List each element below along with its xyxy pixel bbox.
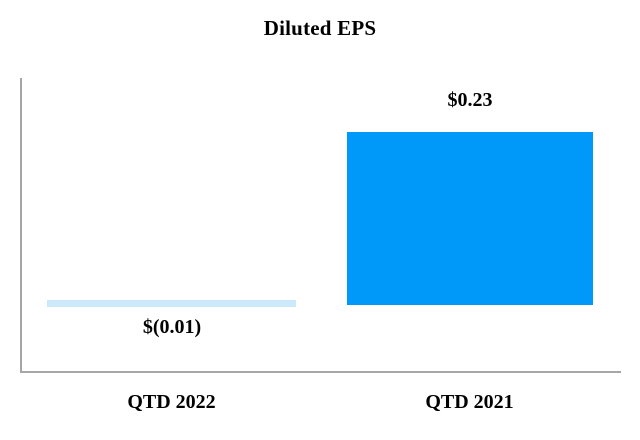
- category-label-qtd-2022: QTD 2022: [57, 391, 286, 414]
- y-axis-line: [20, 78, 22, 373]
- value-label-qtd-2022: $(0.01): [60, 316, 284, 339]
- value-label-qtd-2021: $0.23: [358, 89, 582, 112]
- category-label-qtd-2021: QTD 2021: [355, 391, 584, 414]
- diluted-eps-bar-chart: Diluted EPS $(0.01) $0.23 QTD 2022 QTD 2…: [0, 0, 640, 440]
- x-axis-line: [20, 371, 621, 373]
- chart-title: Diluted EPS: [0, 16, 640, 41]
- bar-qtd-2021: [347, 132, 593, 305]
- bar-qtd-2022: [47, 300, 296, 307]
